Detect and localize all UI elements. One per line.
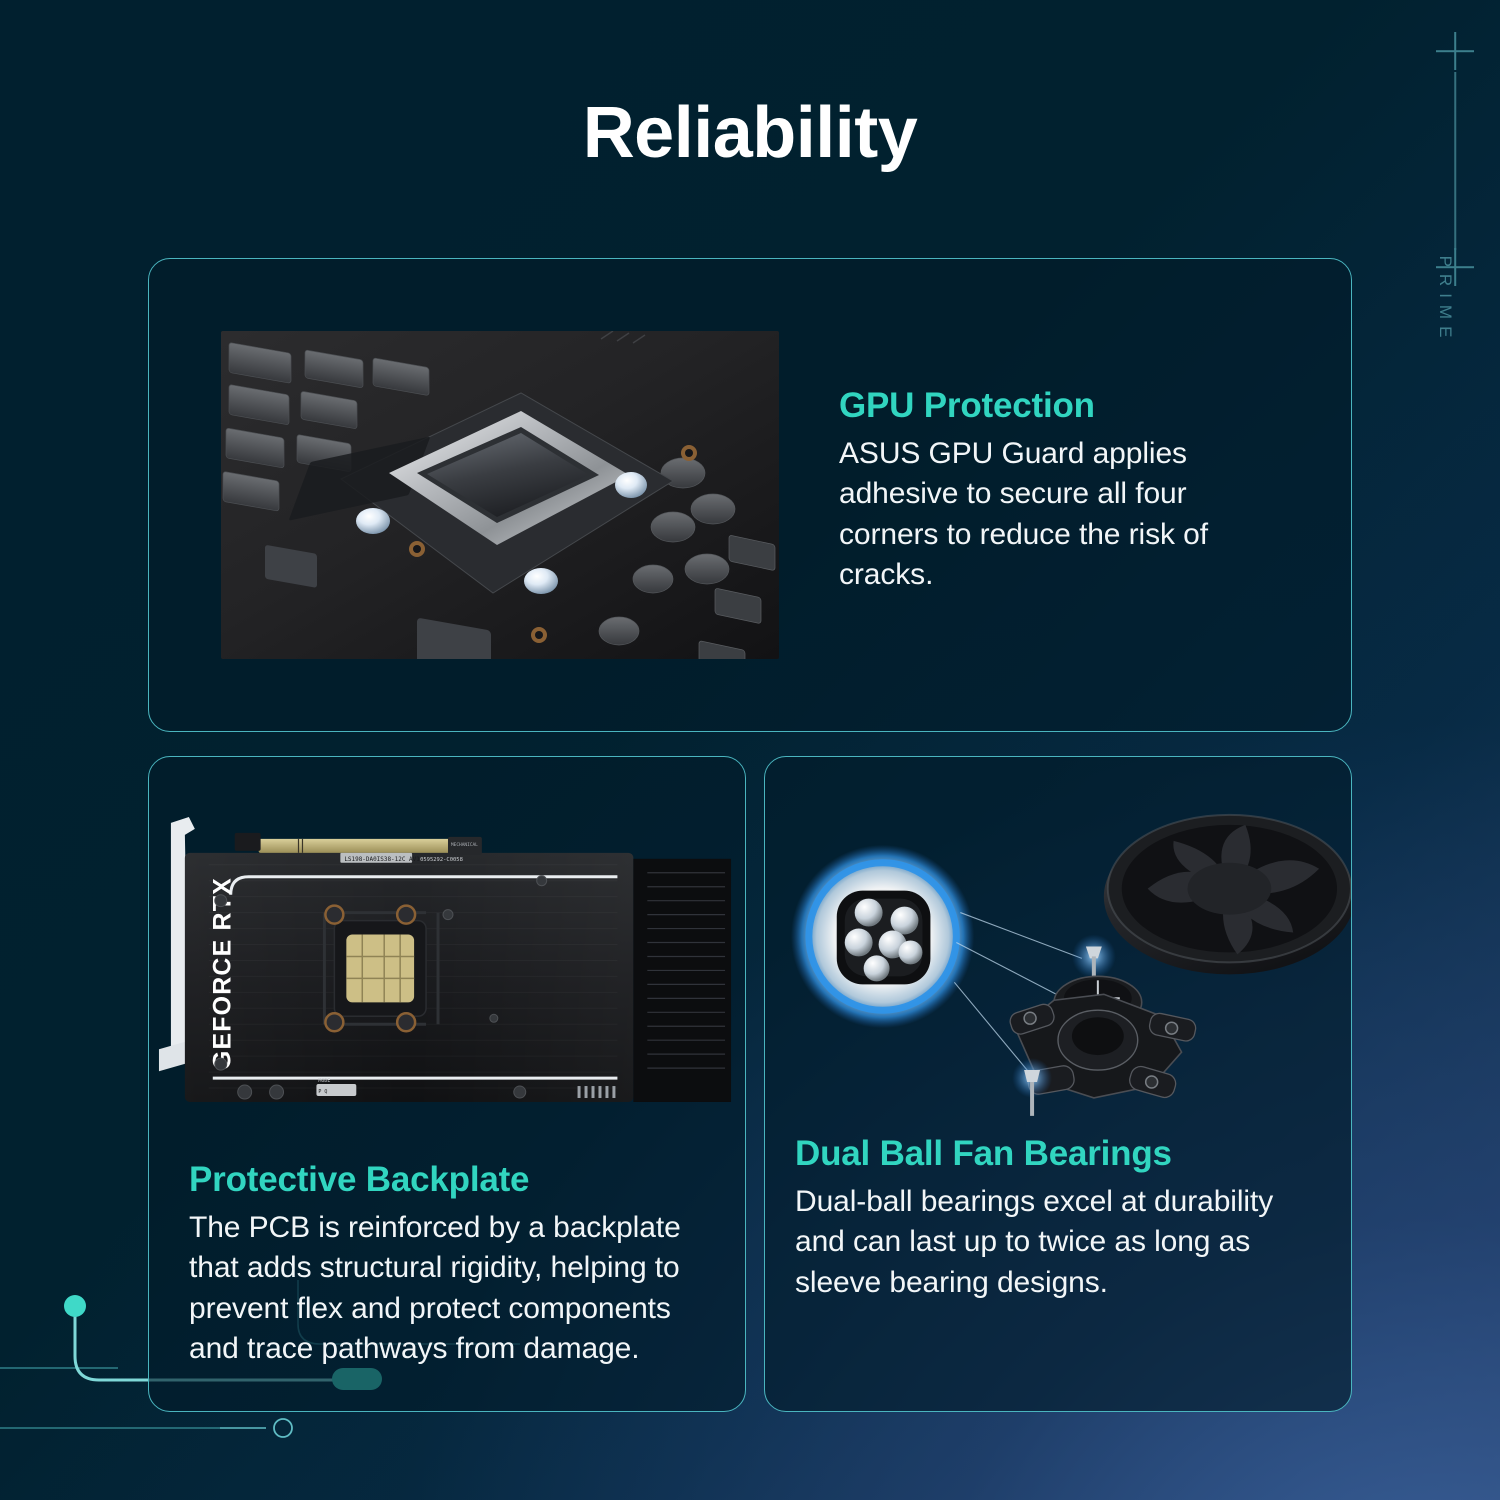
card-heading: Dual Ball Fan Bearings	[795, 1135, 1329, 1174]
card-protective-backplate: LS198-DA0IS38-12C AV1 0595292-C0058 MECH…	[148, 756, 746, 1412]
fan-bearing-image	[765, 787, 1351, 1117]
card-body: The PCB is reinforced by a backplate tha…	[189, 1208, 711, 1370]
card-dual-ball-fan-bearings: Dual Ball Fan Bearings Dual-ball bearing…	[764, 756, 1352, 1412]
svg-text:P Q: P Q	[318, 1089, 327, 1095]
gpu-protection-text: GPU Protection ASUS GPU Guard applies ad…	[839, 331, 1289, 731]
card-heading: GPU Protection	[839, 387, 1289, 426]
brand-rail: PRIME	[1410, 0, 1500, 470]
backplate-image: LS198-DA0IS38-12C AV1 0595292-C0058 MECH…	[149, 803, 745, 1143]
svg-text:LS198-DA0IS38-12C AV1: LS198-DA0IS38-12C AV1	[344, 856, 420, 863]
circuit-filled-dot	[64, 1295, 86, 1317]
svg-text:0595292-C0058: 0595292-C0058	[420, 857, 463, 863]
svg-text:MODE: MODE	[318, 1078, 330, 1084]
card-body: ASUS GPU Guard applies adhesive to secur…	[839, 434, 1289, 596]
poster-canvas: Reliability PRIME	[0, 0, 1500, 1500]
plus-mark-icon	[1436, 32, 1474, 70]
backplate-text: Protective Backplate The PCB is reinforc…	[149, 1143, 745, 1370]
rail-divider-line	[1454, 72, 1456, 250]
brand-label-prime: PRIME	[1435, 256, 1455, 345]
svg-text:MECHANICAL: MECHANICAL	[451, 842, 478, 848]
circuit-outlined-circle	[274, 1419, 292, 1437]
card-gpu-protection: GPU Protection ASUS GPU Guard applies ad…	[148, 258, 1352, 732]
gpu-protection-image	[221, 331, 779, 659]
card-heading: Protective Backplate	[189, 1161, 711, 1200]
page-title: Reliability	[0, 92, 1500, 174]
card-body: Dual-ball bearings excel at durability a…	[795, 1182, 1329, 1304]
fan-bearing-text: Dual Ball Fan Bearings Dual-ball bearing…	[765, 1117, 1351, 1303]
